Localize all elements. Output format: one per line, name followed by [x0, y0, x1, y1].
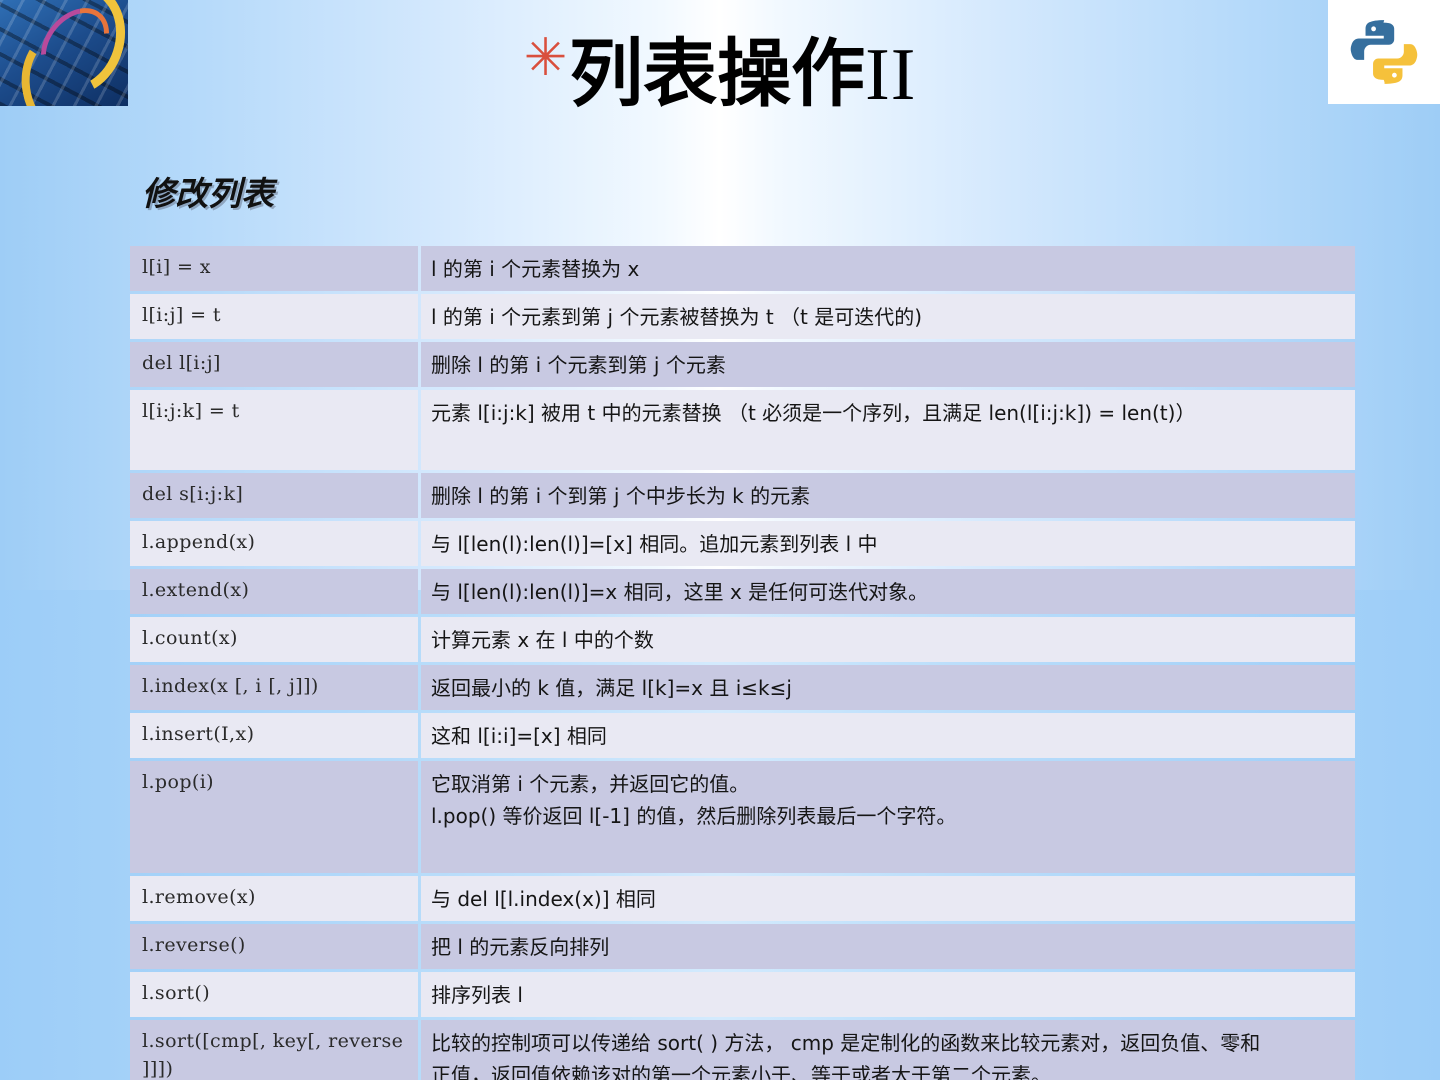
operation-code-cell: del s[i:j:k] [130, 473, 418, 518]
operation-code-cell: l.pop(i) [130, 761, 418, 873]
page-title-numeral: II [865, 34, 916, 116]
table-row: l.append(x)与 l[len(l):len(l)]=[x] 相同。追加元… [130, 521, 1355, 566]
description-line: 比较的控制项可以传递给 sort( ) 方法， cmp 是定制化的函数来比较元素… [431, 1027, 1345, 1059]
table-row: l.sort()排序列表 l [130, 972, 1355, 1017]
description-line: 排序列表 l [431, 979, 1345, 1011]
operation-description-cell: 删除 l 的第 i 个元素到第 j 个元素 [421, 342, 1355, 387]
operation-description-cell: 排序列表 l [421, 972, 1355, 1017]
list-operations-table: l[i] = xl 的第 i 个元素替换为 xl[i:j] = tl 的第 i … [130, 246, 1355, 1080]
operation-description-cell: 这和 l[i:i]=[x] 相同 [421, 713, 1355, 758]
operation-description-cell: 比较的控制项可以传递给 sort( ) 方法， cmp 是定制化的函数来比较元素… [421, 1020, 1355, 1080]
operation-description-cell: 与 l[len(l):len(l)]=[x] 相同。追加元素到列表 l 中 [421, 521, 1355, 566]
operation-code-cell: l[i:j] = t [130, 294, 418, 339]
slide-root: ✳列表操作II 修改列表 l[i] = xl 的第 i 个元素替换为 xl[i:… [0, 0, 1440, 1080]
description-line: 它取消第 i 个元素，并返回它的值。 [431, 768, 1345, 800]
description-line: 正值，返回值依赖该对的第一个元素小于、等于或者大于第二个元素。 [431, 1059, 1345, 1080]
table-row: l.extend(x)与 l[len(l):len(l)]=x 相同，这里 x … [130, 569, 1355, 614]
description-line: 删除 l 的第 i 个到第 j 个中步长为 k 的元素 [431, 480, 1345, 512]
table-row: l.sort([cmp[, key[, reverse ]]])比较的控制项可以… [130, 1020, 1355, 1080]
operation-code-cell: l.sort([cmp[, key[, reverse ]]]) [130, 1020, 418, 1080]
table-row: l.index(x [, i [, j]])返回最小的 k 值，满足 l[k]=… [130, 665, 1355, 710]
operation-description-cell: 元素 l[i:j:k] 被用 t 中的元素替换 （t 必须是一个序列，且满足 l… [421, 390, 1355, 470]
description-line: 返回最小的 k 值，满足 l[k]=x 且 i≤k≤j [431, 672, 1345, 704]
operation-code-cell: l.sort() [130, 972, 418, 1017]
operation-code-cell: l.reverse() [130, 924, 418, 969]
operation-code-cell: l.insert(I,x) [130, 713, 418, 758]
operation-code-cell: l.count(x) [130, 617, 418, 662]
description-line: 计算元素 x 在 l 中的个数 [431, 624, 1345, 656]
operation-code-cell: del l[i:j] [130, 342, 418, 387]
description-line: 把 l 的元素反向排列 [431, 931, 1345, 963]
description-line: 删除 l 的第 i 个元素到第 j 个元素 [431, 349, 1345, 381]
description-line: 与 l[len(l):len(l)]=[x] 相同。追加元素到列表 l 中 [431, 528, 1345, 560]
operation-description-cell: 删除 l 的第 i 个到第 j 个中步长为 k 的元素 [421, 473, 1355, 518]
operation-code-cell: l[i:j:k] = t [130, 390, 418, 470]
description-line: l 的第 i 个元素到第 j 个元素被替换为 t （t 是可迭代的) [431, 301, 1345, 333]
operation-description-cell: 把 l 的元素反向排列 [421, 924, 1355, 969]
operation-code-cell: l.index(x [, i [, j]]) [130, 665, 418, 710]
description-line: l 的第 i 个元素替换为 x [431, 253, 1345, 285]
description-line: 与 del l[l.index(x)] 相同 [431, 883, 1345, 915]
table-row: l[i:j] = tl 的第 i 个元素到第 j 个元素被替换为 t （t 是可… [130, 294, 1355, 339]
table-row: l.remove(x)与 del l[l.index(x)] 相同 [130, 876, 1355, 921]
description-line: 这和 l[i:i]=[x] 相同 [431, 720, 1345, 752]
operation-description-cell: 与 del l[l.index(x)] 相同 [421, 876, 1355, 921]
table-row: l.pop(i)它取消第 i 个元素，并返回它的值。l.pop() 等价返回 l… [130, 761, 1355, 873]
description-line: 与 l[len(l):len(l)]=x 相同，这里 x 是任何可迭代对象。 [431, 576, 1345, 608]
table-row: l[i] = xl 的第 i 个元素替换为 x [130, 246, 1355, 291]
operation-description-cell: 它取消第 i 个元素，并返回它的值。l.pop() 等价返回 l[-1] 的值，… [421, 761, 1355, 873]
operation-description-cell: 计算元素 x 在 l 中的个数 [421, 617, 1355, 662]
page-title: ✳列表操作II [0, 10, 1440, 123]
description-line: 元素 l[i:j:k] 被用 t 中的元素替换 （t 必须是一个序列，且满足 l… [431, 397, 1345, 429]
table-row: l[i:j:k] = t元素 l[i:j:k] 被用 t 中的元素替换 （t 必… [130, 390, 1355, 470]
table-row: l.reverse()把 l 的元素反向排列 [130, 924, 1355, 969]
operation-code-cell: l[i] = x [130, 246, 418, 291]
operation-description-cell: 返回最小的 k 值，满足 l[k]=x 且 i≤k≤j [421, 665, 1355, 710]
operation-code-cell: l.extend(x) [130, 569, 418, 614]
section-heading: 修改列表 [142, 172, 274, 216]
table-row: del s[i:j:k]删除 l 的第 i 个到第 j 个中步长为 k 的元素 [130, 473, 1355, 518]
table-row: l.insert(I,x)这和 l[i:i]=[x] 相同 [130, 713, 1355, 758]
table-row: del l[i:j]删除 l 的第 i 个元素到第 j 个元素 [130, 342, 1355, 387]
operation-description-cell: 与 l[len(l):len(l)]=x 相同，这里 x 是任何可迭代对象。 [421, 569, 1355, 614]
operation-code-cell: l.remove(x) [130, 876, 418, 921]
asterisk-bullet-icon: ✳ [524, 28, 568, 88]
table-row: l.count(x)计算元素 x 在 l 中的个数 [130, 617, 1355, 662]
description-line: l.pop() 等价返回 l[-1] 的值，然后删除列表最后一个字符。 [431, 800, 1345, 832]
operation-code-cell: l.append(x) [130, 521, 418, 566]
operation-description-cell: l 的第 i 个元素替换为 x [421, 246, 1355, 291]
page-title-text: 列表操作 [569, 31, 865, 117]
operation-description-cell: l 的第 i 个元素到第 j 个元素被替换为 t （t 是可迭代的) [421, 294, 1355, 339]
